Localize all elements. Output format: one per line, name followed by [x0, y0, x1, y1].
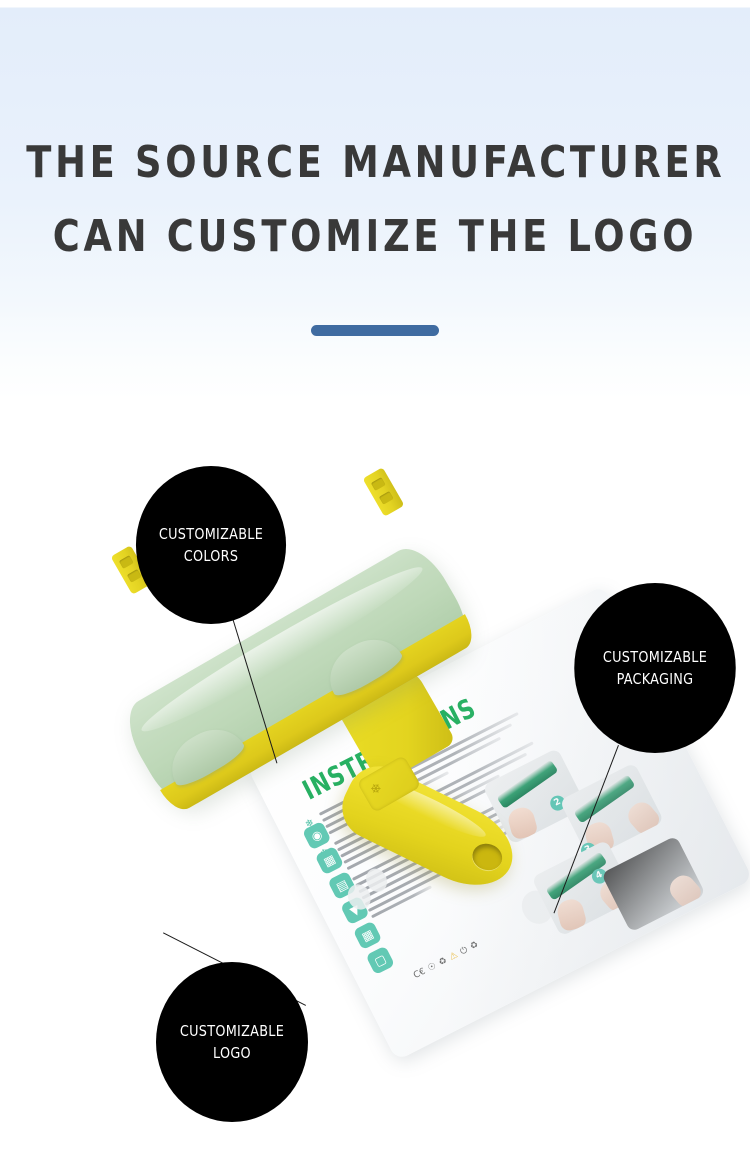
roller-latch-clip [363, 467, 405, 517]
handle-hang-hole [469, 840, 506, 874]
header-banner: THE SOURCE MANUFACTURER CAN CUSTOMIZE TH… [0, 0, 750, 400]
page-title-line-1: THE SOURCE MANUFACTURER [26, 126, 724, 200]
page-title-line-2: CAN CUSTOMIZE THE LOGO [26, 200, 724, 274]
step-photo [601, 836, 706, 933]
warning-icon: ⚠ [448, 950, 460, 963]
product-stage: INSTRUCTIONS ❄ ❄ ❄ [0, 400, 750, 1169]
callout-colors-line-2: COLORS [159, 545, 263, 567]
callout-badge-packaging[interactable]: CUSTOMIZABLE PACKAGING [574, 583, 736, 753]
callout-badge-logo[interactable]: CUSTOMIZABLE LOGO [156, 962, 308, 1122]
step-photo [559, 763, 664, 860]
product-marketing-page: THE SOURCE MANUFACTURER CAN CUSTOMIZE TH… [0, 0, 750, 1169]
roller-handle-grip [332, 756, 526, 901]
ce-mark-icon: C€ [412, 967, 427, 981]
callout-logo-line-1: CUSTOMIZABLE [180, 1020, 284, 1042]
callout-colors-line-1: CUSTOMIZABLE [159, 523, 263, 545]
uk-mark-icon: ☉ [426, 961, 438, 974]
title-underline-accent [311, 325, 439, 336]
callout-packaging-line-1: CUSTOMIZABLE [603, 646, 707, 668]
callout-logo-line-2: LOGO [180, 1042, 284, 1064]
paw-logo-icon: ❄ [368, 780, 386, 799]
callout-badge-colors[interactable]: CUSTOMIZABLE COLORS [136, 466, 286, 624]
page-title: THE SOURCE MANUFACTURER CAN CUSTOMIZE TH… [26, 126, 724, 274]
recycle-icon: ♻ [437, 956, 449, 969]
callout-packaging-line-2: PACKAGING [603, 668, 707, 690]
